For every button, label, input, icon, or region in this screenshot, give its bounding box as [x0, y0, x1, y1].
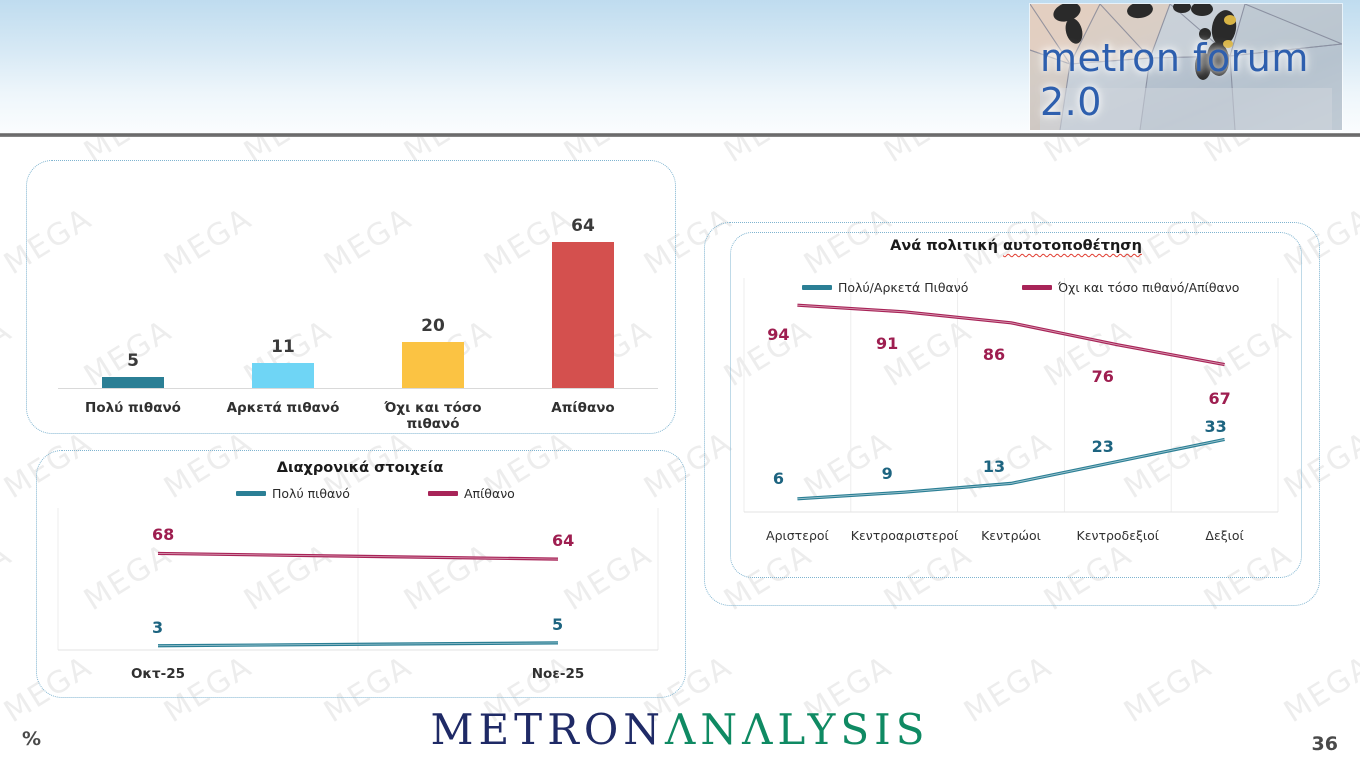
watermark-text: MEGA — [1038, 761, 1138, 770]
right-point-label-s0-1: 9 — [864, 464, 910, 483]
right-point-label-s0-3: 23 — [1080, 437, 1126, 456]
right-point-label-s0-0: 6 — [755, 469, 801, 488]
watermark-text: MEGA — [0, 761, 19, 770]
chart-trend-plot — [50, 456, 670, 690]
bar-category-label-0: Πολύ πιθανό — [58, 400, 208, 416]
legend-right-1[interactable]: Όχι και τόσο πιθανό/Απίθανο — [1022, 280, 1239, 295]
bar-category-label-3: Απίθανο — [508, 400, 658, 416]
legend-line-icon — [1022, 285, 1052, 290]
legend-line-icon — [802, 285, 832, 290]
watermark-text: MEGA — [0, 313, 19, 394]
page-number: 36 — [1312, 733, 1338, 755]
trend-point-label-s1-0: 68 — [152, 525, 174, 544]
watermark-text: MEGA — [78, 761, 178, 770]
trend-point-label-s0-0: 3 — [152, 618, 163, 637]
watermark-text: MEGA — [1198, 761, 1298, 770]
chart-right-title-prefix: Ανά πολιτική — [890, 238, 1003, 254]
bar-3[interactable] — [552, 242, 614, 388]
trend-point-label-s1-1: 64 — [552, 531, 574, 550]
legend-line-icon — [428, 491, 458, 496]
watermark-text: MEGA — [878, 761, 978, 770]
chart-trend-title: Διαχρονικά στοιχεία — [50, 460, 670, 476]
bar-value-label-3: 64 — [533, 216, 633, 236]
bar-value-label-1: 11 — [233, 337, 333, 357]
right-point-label-s0-2: 13 — [971, 457, 1017, 476]
bar-category-label-2: Όχι και τόσο πιθανό — [358, 400, 508, 432]
right-category-label-1: Κεντροαριστεροί — [851, 528, 958, 543]
bar-category-label-1: Αρκετά πιθανό — [208, 400, 358, 416]
slide: MEGAMEGAMEGAMEGAMEGAMEGAMEGAMEGAMEGAMEGA… — [0, 0, 1360, 770]
logo-analysis: ΛΝΛLYSIS — [665, 705, 929, 754]
chart-right-title-misspelled: αυτοτοποθέτηση — [1003, 238, 1142, 254]
right-point-label-s0-4: 33 — [1193, 417, 1239, 436]
chart-right-title: Ανά πολιτική αυτοτοποθέτηση — [740, 238, 1292, 254]
right-point-label-s1-3: 76 — [1080, 367, 1126, 386]
right-category-label-0: Αριστεροί — [744, 528, 851, 543]
header-divider — [0, 133, 1360, 137]
right-category-label-3: Κεντροδεξιοί — [1064, 528, 1171, 543]
chart-trend: Διαχρονικά στοιχεία Πολύ πιθανό Απίθανο … — [50, 456, 670, 690]
watermark-text: MEGA — [0, 537, 19, 618]
legend-trend-label-0: Πολύ πιθανό — [272, 486, 350, 501]
bar-value-label-2: 20 — [383, 316, 483, 336]
watermark-text: MEGA — [558, 761, 658, 770]
right-point-label-s1-1: 91 — [864, 334, 910, 353]
right-point-label-s1-0: 94 — [755, 325, 801, 344]
metron-analysis-logo: METRONΛΝΛLYSIS — [0, 705, 1360, 754]
watermark-text: MEGA — [398, 761, 498, 770]
legend-right-0[interactable]: Πολύ/Αρκετά Πιθανό — [802, 280, 968, 295]
legend-trend-0[interactable]: Πολύ πιθανό — [236, 486, 350, 501]
bar-2[interactable] — [402, 342, 464, 388]
chart-main-bars: 5Πολύ πιθανό11Αρκετά πιθανό20Όχι και τόσ… — [40, 180, 670, 420]
chart-self-placement: Ανά πολιτική αυτοτοποθέτηση Πολύ/Αρκετά … — [740, 236, 1292, 572]
watermark-text: MEGA — [238, 761, 338, 770]
bar-0[interactable] — [102, 377, 164, 388]
watermark-text: MEGA — [718, 761, 818, 770]
legend-trend-1[interactable]: Απίθανο — [428, 486, 515, 501]
logo-metron: METRON — [431, 705, 665, 754]
forum-logo-text: metron forum 2.0 — [1040, 36, 1342, 124]
right-category-label-4: Δεξιοί — [1171, 528, 1278, 543]
percent-symbol: % — [22, 728, 41, 750]
bar-value-label-0: 5 — [83, 351, 183, 371]
right-point-label-s1-4: 67 — [1197, 389, 1243, 408]
metron-forum-logo: metron forum 2.0 — [1030, 4, 1342, 130]
legend-right-label-0: Πολύ/Αρκετά Πιθανό — [838, 280, 968, 295]
trend-category-label-1: Νοε-25 — [488, 666, 628, 682]
legend-right-label-1: Όχι και τόσο πιθανό/Απίθανο — [1058, 280, 1239, 295]
trend-category-label-0: Οκτ-25 — [88, 666, 228, 682]
bar-1[interactable] — [252, 363, 314, 388]
legend-trend-label-1: Απίθανο — [464, 486, 515, 501]
trend-point-label-s0-1: 5 — [552, 615, 563, 634]
right-category-label-2: Κεντρώοι — [958, 528, 1065, 543]
legend-line-icon — [236, 491, 266, 496]
right-point-label-s1-2: 86 — [971, 345, 1017, 364]
